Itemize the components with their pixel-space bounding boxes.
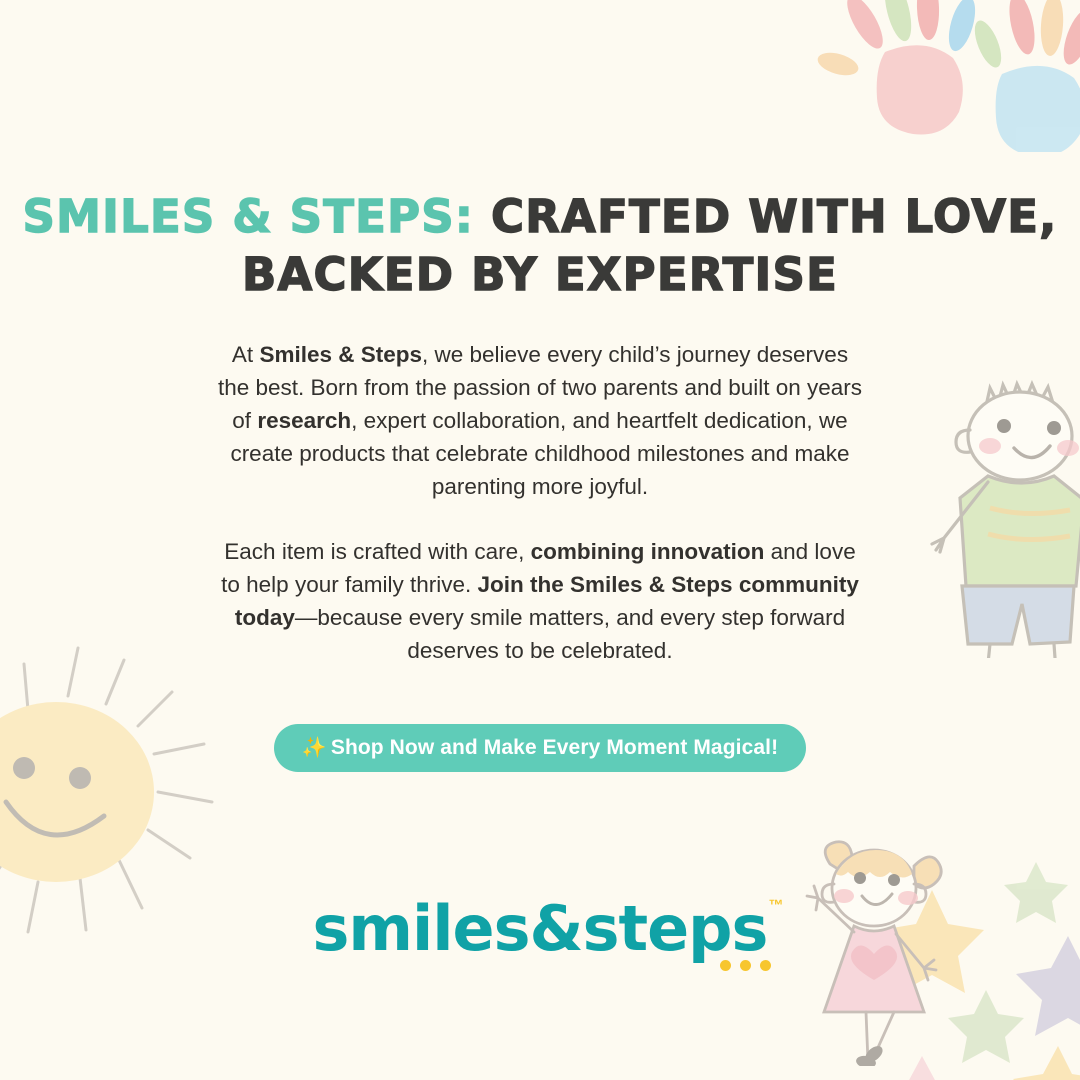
- p1-bold-brand: Smiles & Steps: [259, 342, 422, 367]
- shop-now-button-label: Shop Now and Make Every Moment Magical!: [331, 736, 778, 760]
- p2-seg1: Each item is crafted with care,: [224, 539, 530, 564]
- p1-bold-research: research: [257, 408, 351, 433]
- body-paragraph-2: Each item is crafted with care, combinin…: [215, 535, 865, 667]
- brand-logo[interactable]: smiles&steps ™: [0, 893, 1080, 993]
- page-title: Smiles & Steps: Crafted with Love, Backe…: [0, 188, 1080, 304]
- content-layer: Smiles & Steps: Crafted with Love, Backe…: [0, 0, 1080, 1080]
- body-copy: At Smiles & Steps, we believe every chil…: [215, 338, 865, 667]
- page-title-brand: Smiles & Steps:: [23, 190, 475, 243]
- sparkles-icon: ✨: [302, 738, 327, 758]
- cta-container: ✨Shop Now and Make Every Moment Magical!: [0, 724, 1080, 772]
- trademark-icon: ™: [768, 897, 783, 914]
- logo-dots-icon: [720, 960, 771, 971]
- body-paragraph-1: At Smiles & Steps, we believe every chil…: [215, 338, 865, 503]
- logo-word-smiles: smiles: [313, 892, 530, 965]
- logo-ampersand: &: [530, 892, 583, 965]
- shop-now-button[interactable]: ✨Shop Now and Make Every Moment Magical!: [274, 724, 806, 772]
- poster-canvas: Smiles & Steps: Crafted with Love, Backe…: [0, 0, 1080, 1080]
- p1-seg1: At: [232, 342, 260, 367]
- p2-seg3: —because every smile matters, and every …: [295, 605, 845, 663]
- p2-bold-innovation: combining innovation: [531, 539, 765, 564]
- logo-word-steps: steps: [583, 892, 768, 965]
